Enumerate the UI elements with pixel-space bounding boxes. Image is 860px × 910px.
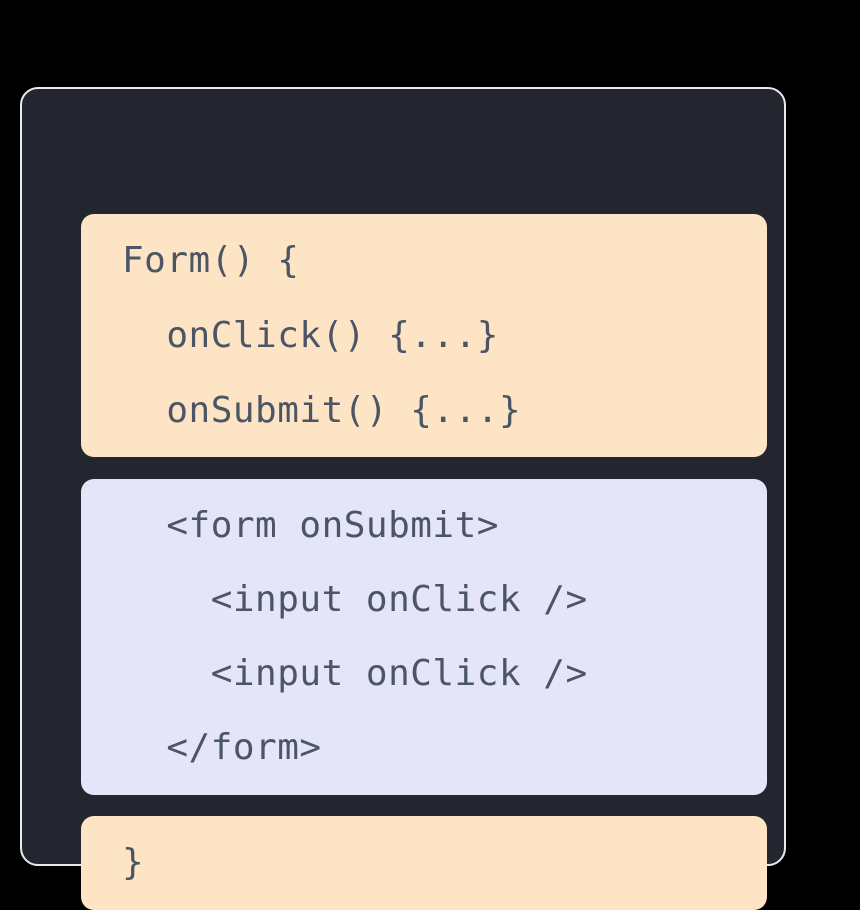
- code-card: Form() { onClick() {...} onSubmit() {...…: [20, 87, 786, 866]
- code-line: }: [122, 826, 767, 900]
- code-panel-closing-brace: }: [81, 816, 767, 910]
- code-line: </form>: [122, 711, 767, 785]
- code-panel-jsx-markup: <form onSubmit> <input onClick /> <input…: [81, 479, 767, 795]
- code-line: onSubmit() {...}: [122, 373, 767, 448]
- code-line: <form onSubmit>: [122, 489, 767, 563]
- screenshot-canvas: Form() { onClick() {...} onSubmit() {...…: [0, 0, 860, 874]
- code-panel-component-methods: Form() { onClick() {...} onSubmit() {...…: [81, 214, 767, 457]
- code-line: onClick() {...}: [122, 298, 767, 373]
- code-line: <input onClick />: [122, 563, 767, 637]
- code-line: Form() {: [122, 223, 767, 298]
- code-line: <input onClick />: [122, 637, 767, 711]
